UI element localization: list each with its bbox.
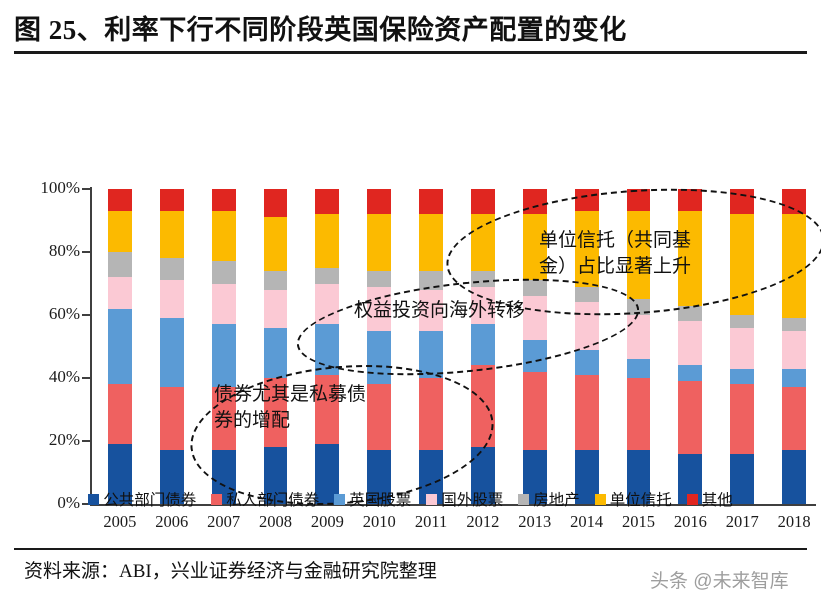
- x-axis-tick-label: 2009: [301, 512, 353, 532]
- legend-item[interactable]: 私人部门债券: [211, 488, 319, 510]
- bar-segment: [108, 252, 132, 277]
- bar-segment: [730, 384, 754, 453]
- bar-segment: [782, 369, 806, 388]
- bar-segment: [315, 284, 339, 325]
- bar-segment: [264, 328, 288, 378]
- bar-segment: [264, 189, 288, 217]
- bar-segment: [627, 315, 651, 359]
- y-axis-tick-label: 100%: [18, 178, 80, 198]
- bar-column: [782, 189, 806, 504]
- legend-label: 英国股票: [349, 488, 411, 510]
- legend-swatch-icon: [518, 494, 529, 505]
- bar-segment: [471, 271, 495, 287]
- x-axis-tick-label: 2011: [405, 512, 457, 532]
- bar-segment: [315, 268, 339, 284]
- bar-column: [419, 189, 443, 504]
- bar-segment: [160, 280, 184, 318]
- bar-segment: [419, 331, 443, 378]
- bar-segment: [160, 318, 184, 387]
- x-axis-tick-label: 2012: [457, 512, 509, 532]
- bar-segment: [575, 189, 599, 211]
- bar-segment: [782, 189, 806, 214]
- x-axis-tick-label: 2017: [716, 512, 768, 532]
- bar-segment: [627, 299, 651, 315]
- bar-segment: [575, 375, 599, 451]
- bar-segment: [782, 387, 806, 450]
- x-axis-tick-label: 2013: [509, 512, 561, 532]
- page-title: 图 25、利率下行不同阶段英国保险资产配置的变化: [14, 8, 807, 47]
- bar-segment: [471, 365, 495, 447]
- legend-swatch-icon: [687, 494, 698, 505]
- bar-segment: [782, 214, 806, 318]
- bar-segment: [678, 381, 702, 453]
- bar-segment: [523, 280, 547, 296]
- chart-page: 图 25、利率下行不同阶段英国保险资产配置的变化 0%20%40%60%80%1…: [0, 0, 821, 609]
- bar-segment: [160, 258, 184, 280]
- bar-segment: [315, 189, 339, 214]
- y-axis-tick-label: 20%: [18, 430, 80, 450]
- bar-segment: [108, 211, 132, 252]
- bar-segment: [108, 277, 132, 309]
- legend-item[interactable]: 英国股票: [334, 488, 411, 510]
- bar-segment: [212, 211, 236, 261]
- bar-segment: [730, 369, 754, 385]
- bar-segment: [367, 214, 391, 271]
- legend-label: 单位信托: [610, 488, 672, 510]
- bar-segment: [108, 189, 132, 211]
- bar-segment: [523, 189, 547, 214]
- bar-segment: [315, 214, 339, 268]
- legend-label: 国外股票: [441, 488, 503, 510]
- bar-segment: [160, 189, 184, 211]
- x-axis-tick-label: 2016: [664, 512, 716, 532]
- bar-segment: [108, 384, 132, 444]
- bar-column: [212, 189, 236, 504]
- bar-segment: [471, 324, 495, 365]
- title-block: 图 25、利率下行不同阶段英国保险资产配置的变化: [14, 8, 807, 54]
- bar-segment: [627, 378, 651, 450]
- bar-segment: [678, 306, 702, 322]
- x-axis-tick-label: 2010: [353, 512, 405, 532]
- bar-segment: [471, 214, 495, 271]
- y-axis-labels: 0%20%40%60%80%100%: [14, 70, 80, 540]
- y-axis-tick-label: 40%: [18, 367, 80, 387]
- bar-column: [471, 189, 495, 504]
- source-note: 资料来源：ABI，兴业证券经济与金融研究院整理: [24, 556, 437, 583]
- bar-segment: [678, 189, 702, 211]
- annotation-equity-overseas-note: 权益投资向海外转移: [354, 298, 604, 324]
- x-axis-tick-label: 2006: [146, 512, 198, 532]
- bar-segment: [678, 321, 702, 365]
- bar-segment: [160, 211, 184, 258]
- bar-segment: [730, 328, 754, 369]
- chart-area: 0%20%40%60%80%100% 债券尤其是私募债 券的增配 权益投资向海外…: [14, 70, 807, 540]
- annotation-bond-allocation-note: 债券尤其是私募债 券的增配: [214, 382, 434, 434]
- x-axis-tick-label: 2008: [250, 512, 302, 532]
- bar-segment: [471, 189, 495, 214]
- bar-segment: [212, 261, 236, 283]
- watermark: 头条 @未来智库: [650, 566, 789, 593]
- bar-segment: [575, 350, 599, 375]
- x-axis-tick-label: 2018: [768, 512, 820, 532]
- x-axis-tick-label: 2014: [561, 512, 613, 532]
- bar-segment: [782, 318, 806, 331]
- bar-segment: [160, 387, 184, 450]
- legend-label: 私人部门债券: [226, 488, 319, 510]
- bar-segment: [367, 271, 391, 287]
- bar-segment: [212, 284, 236, 325]
- bar-segment: [264, 271, 288, 290]
- legend-label: 公共部门债券: [103, 488, 196, 510]
- legend-item[interactable]: 国外股票: [426, 488, 503, 510]
- legend-swatch-icon: [334, 494, 345, 505]
- bar-segment: [627, 189, 651, 211]
- legend-swatch-icon: [88, 494, 99, 505]
- bar-segment: [523, 340, 547, 372]
- footer-divider: [14, 548, 807, 550]
- bar-segment: [212, 189, 236, 211]
- bar-column: [367, 189, 391, 504]
- bar-segment: [627, 359, 651, 378]
- bar-segment: [367, 189, 391, 214]
- title-divider: [14, 51, 807, 54]
- bar-segment: [419, 189, 443, 214]
- x-axis-tick-label: 2007: [198, 512, 250, 532]
- bar-segment: [678, 365, 702, 381]
- legend-swatch-icon: [595, 494, 606, 505]
- x-axis-tick-label: 2015: [613, 512, 665, 532]
- annotation-unit-trust-note: 单位信托（共同基 金）占比显著上升: [539, 228, 754, 280]
- y-axis-tick-label: 60%: [18, 304, 80, 324]
- legend-label: 房地产: [533, 488, 580, 510]
- x-axis-tick-label: 2005: [94, 512, 146, 532]
- bar-segment: [264, 217, 288, 271]
- bar-column: [108, 189, 132, 504]
- bar-column: [160, 189, 184, 504]
- bar-segment: [367, 331, 391, 385]
- legend-item[interactable]: 房地产: [518, 488, 580, 510]
- bar-segment: [419, 214, 443, 271]
- legend-swatch-icon: [426, 494, 437, 505]
- legend-item[interactable]: 其他: [687, 488, 733, 510]
- x-axis-labels: 2005200620072008200920102011201220132014…: [90, 510, 816, 540]
- bar-segment: [523, 372, 547, 451]
- y-axis-tick-label: 80%: [18, 241, 80, 261]
- bar-segment: [108, 309, 132, 385]
- bar-segment: [264, 290, 288, 328]
- bar-segment: [782, 331, 806, 369]
- legend-item[interactable]: 单位信托: [595, 488, 672, 510]
- bar-column: [315, 189, 339, 504]
- chart-legend: 公共部门债券私人部门债券英国股票国外股票房地产单位信托其他: [14, 486, 807, 512]
- legend-label: 其他: [702, 488, 733, 510]
- bar-segment: [730, 189, 754, 214]
- bar-segment: [212, 324, 236, 387]
- bar-column: [264, 189, 288, 504]
- bar-segment: [315, 324, 339, 374]
- bar-segment: [730, 315, 754, 328]
- legend-swatch-icon: [211, 494, 222, 505]
- bar-segment: [419, 271, 443, 290]
- legend-item[interactable]: 公共部门债券: [88, 488, 196, 510]
